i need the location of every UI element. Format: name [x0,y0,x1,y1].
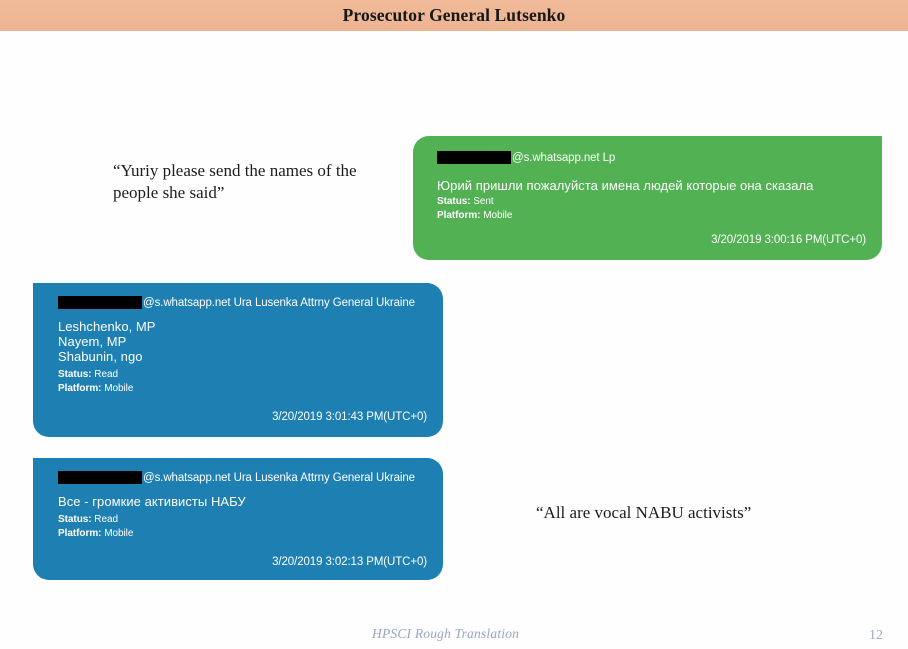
message-status-row: Status: Read [58,513,133,527]
message-bubble-incoming: @s.whatsapp.net Ura Lusenka Attrny Gener… [33,458,443,580]
message-platform-row: Platform: Mobile [58,382,133,396]
status-label: Status: [58,369,92,380]
translation-annotation: “All are vocal NABU activists” [536,502,836,524]
message-status-row: Status: Read [58,368,133,382]
message-metadata: Status: Sent Platform: Mobile [437,195,512,222]
message-sender-line: @s.whatsapp.net Ura Lusenka Attrny Gener… [58,471,415,484]
message-timestamp: 3/20/2019 3:01:43 PM(UTC+0) [272,411,427,423]
sender-handle: @s.whatsapp.net Ura Lusenka Attrny Gener… [143,472,415,484]
status-value: Read [94,369,118,380]
page-title: Prosecutor General Lutsenko [0,0,908,31]
redaction-bar [437,151,511,164]
message-timestamp: 3/20/2019 3:00:16 PM(UTC+0) [711,234,866,246]
footer-note: HPSCI Rough Translation [372,626,519,642]
message-metadata: Status: Read Platform: Mobile [58,513,133,540]
message-platform-row: Platform: Mobile [58,527,133,541]
message-body-text: Все - громкие активисты НАБУ [58,494,246,509]
message-timestamp: 3/20/2019 3:02:13 PM(UTC+0) [272,556,427,568]
status-label: Status: [437,196,471,207]
platform-label: Platform: [58,383,101,394]
redaction-bar [58,296,142,309]
status-label: Status: [58,514,92,525]
message-bubble-incoming: @s.whatsapp.net Ura Lusenka Attrny Gener… [33,283,443,437]
platform-label: Platform: [437,210,480,221]
message-body-text: Юрий пришли пожалуйста имена людей котор… [437,178,813,193]
platform-value: Mobile [483,210,512,221]
message-bubble-outgoing: @s.whatsapp.net Lp Юрий пришли пожалуйст… [413,136,882,260]
platform-label: Platform: [58,528,101,539]
redaction-bar [58,471,142,484]
platform-value: Mobile [104,383,133,394]
message-body-text: Leshchenko, MP Nayem, MP Shabunin, ngo [58,319,156,364]
sender-handle: @s.whatsapp.net Ura Lusenka Attrny Gener… [143,297,415,309]
message-sender-line: @s.whatsapp.net Lp [437,151,615,164]
message-platform-row: Platform: Mobile [437,209,512,223]
status-value: Read [94,514,118,525]
page-number: 12 [869,628,883,644]
translation-annotation: “Yuriy please send the names of the peop… [113,160,373,204]
message-status-row: Status: Sent [437,195,512,209]
message-metadata: Status: Read Platform: Mobile [58,368,133,395]
platform-value: Mobile [104,528,133,539]
message-sender-line: @s.whatsapp.net Ura Lusenka Attrny Gener… [58,296,415,309]
sender-handle: @s.whatsapp.net Lp [512,152,615,164]
status-value: Sent [473,196,493,207]
